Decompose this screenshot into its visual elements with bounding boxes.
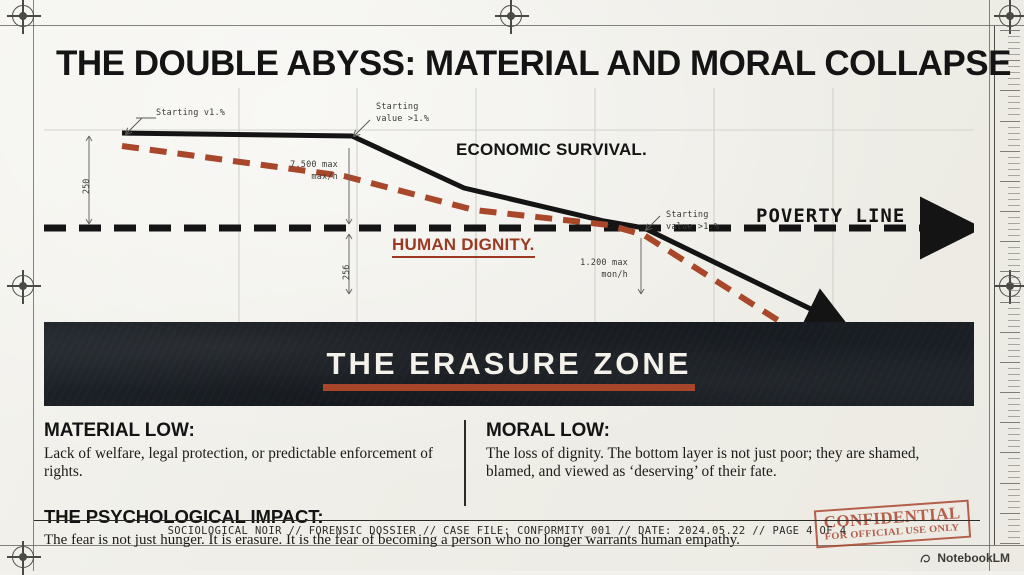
ruler-tick xyxy=(1008,277,1020,278)
ruler-tick xyxy=(1008,223,1020,224)
ruler-tick xyxy=(1008,416,1020,417)
human-dignity-text: HUMAN DIGNITY. xyxy=(392,235,535,255)
ruler-tick xyxy=(1008,175,1020,176)
material-low-body: Lack of welfare, legal protection, or pr… xyxy=(44,445,446,482)
ruler-tick xyxy=(1008,368,1020,369)
ruler-tick xyxy=(1008,320,1020,321)
ruler-tick xyxy=(1008,114,1020,115)
ruler-tick xyxy=(1000,422,1020,423)
ruler-tick xyxy=(1008,446,1020,447)
poster-page: (function(){ var host=document.currentSc… xyxy=(0,0,1024,571)
registration-mark-middle-left xyxy=(12,275,34,297)
ruler-tick xyxy=(1008,290,1020,291)
ruler-tick xyxy=(1008,265,1020,266)
ruler-tick xyxy=(1000,332,1020,333)
ruler-tick xyxy=(1000,121,1020,122)
registration-mark-top-right xyxy=(999,5,1021,27)
ruler-tick xyxy=(1008,507,1020,508)
ruler-tick xyxy=(1008,458,1020,459)
content-sheet: THE DOUBLE ABYSS: MATERIAL AND MORAL COL… xyxy=(34,26,980,545)
ruler-tick xyxy=(1008,36,1020,37)
ruler-tick xyxy=(1008,157,1020,158)
ruler-tick xyxy=(1008,374,1020,375)
ruler-tick xyxy=(1008,199,1020,200)
dimension-label-top: 250 xyxy=(82,179,92,194)
footer-bar: SOCIOLOGICAL NOIR // FORENSIC DOSSIER //… xyxy=(34,520,980,545)
ruler-tick xyxy=(1008,440,1020,441)
ruler-tick xyxy=(1008,428,1020,429)
ruler-tick xyxy=(1008,127,1020,128)
ruler-tick xyxy=(1008,404,1020,405)
ruler-tick xyxy=(1008,259,1020,260)
erasure-zone-label: THE ERASURE ZONE xyxy=(327,346,692,382)
ruler-tick xyxy=(1000,483,1020,484)
ruler-tick xyxy=(1008,217,1020,218)
ruler-tick xyxy=(1008,133,1020,134)
edge-ruler: (function(){ var host=document.currentSc… xyxy=(994,26,1020,545)
ruler-tick xyxy=(1008,205,1020,206)
ruler-tick xyxy=(1008,344,1020,345)
collapse-chart: Starting v1.% Starting value >1.% Starti… xyxy=(44,88,974,338)
ruler-tick xyxy=(1000,181,1020,182)
ruler-tick xyxy=(1008,42,1020,43)
ruler-tick xyxy=(1000,543,1020,544)
measurement-right-line1: 1.200 max xyxy=(556,258,628,269)
notebooklm-icon xyxy=(919,552,932,565)
annotation-start-right-line1: Starting xyxy=(666,210,709,221)
ruler-tick xyxy=(1008,326,1020,327)
ruler-tick xyxy=(1008,84,1020,85)
ruler-tick xyxy=(1008,495,1020,496)
notebooklm-label: NotebookLM xyxy=(937,551,1010,565)
ruler-tick xyxy=(1008,531,1020,532)
measurement-mid-line2: max/h xyxy=(266,172,338,183)
title-highlight: DOUBLE ABYSS xyxy=(134,44,405,84)
ruler-tick xyxy=(1000,211,1020,212)
page-title: THE DOUBLE ABYSS: MATERIAL AND MORAL COL… xyxy=(56,44,970,84)
ruler-tick xyxy=(1000,151,1020,152)
ruler-tick xyxy=(1008,296,1020,297)
ruler-tick xyxy=(1008,308,1020,309)
ruler-tick xyxy=(1008,187,1020,188)
ruler-tick xyxy=(1008,229,1020,230)
moral-low-heading: MORAL LOW: xyxy=(486,420,956,442)
ruler-tick xyxy=(1008,108,1020,109)
registration-mark-bottom-left xyxy=(12,546,34,568)
ruler-tick xyxy=(1008,163,1020,164)
ruler-tick xyxy=(1000,241,1020,242)
ruler-tick xyxy=(1008,314,1020,315)
crop-line-right xyxy=(989,0,990,571)
ruler-tick xyxy=(1000,362,1020,363)
panel-material-low: MATERIAL LOW: Lack of welfare, legal pro… xyxy=(44,420,464,506)
ruler-tick xyxy=(1008,235,1020,236)
title-pre: THE xyxy=(56,44,134,83)
ruler-tick xyxy=(1008,537,1020,538)
notebooklm-branding: NotebookLM xyxy=(919,551,1010,565)
title-post: : MATERIAL AND MORAL COLLAPSE xyxy=(405,44,1011,83)
ruler-tick xyxy=(1008,96,1020,97)
panel-moral-low: MORAL LOW: The loss of dignity. The bott… xyxy=(464,420,974,506)
measurement-right-line2: mon/h xyxy=(556,270,628,281)
ruler-tick xyxy=(1000,90,1020,91)
ruler-tick xyxy=(1008,356,1020,357)
ruler-tick xyxy=(1008,398,1020,399)
annotation-start-left: Starting v1.% xyxy=(156,108,225,119)
poverty-line-label: POVERTY LINE xyxy=(756,205,905,227)
ruler-rail xyxy=(994,26,996,545)
ruler-tick xyxy=(1000,30,1020,31)
ruler-tick xyxy=(1008,169,1020,170)
ruler-tick xyxy=(1008,489,1020,490)
annotation-start-mid-line2: value >1.% xyxy=(376,114,429,125)
ruler-tick xyxy=(1000,392,1020,393)
ruler-tick xyxy=(1008,410,1020,411)
material-low-heading: MATERIAL LOW: xyxy=(44,420,446,442)
ruler-tick xyxy=(1008,247,1020,248)
ruler-tick xyxy=(1008,525,1020,526)
moral-low-body: The loss of dignity. The bottom layer is… xyxy=(486,445,956,482)
ruler-tick xyxy=(1008,471,1020,472)
annotation-start-mid-line1: Starting xyxy=(376,102,419,113)
footer-text: SOCIOLOGICAL NOIR // FORENSIC DOSSIER //… xyxy=(34,525,980,537)
ruler-tick xyxy=(1008,465,1020,466)
ruler-tick xyxy=(1008,139,1020,140)
ruler-tick xyxy=(1000,271,1020,272)
ruler-tick xyxy=(1000,302,1020,303)
ruler-tick xyxy=(1008,338,1020,339)
ruler-tick xyxy=(1000,513,1020,514)
ruler-tick xyxy=(1008,434,1020,435)
annotation-start-right-line2: value >1.% xyxy=(666,222,719,233)
erasure-zone-banner: THE ERASURE ZONE xyxy=(44,322,974,406)
ruler-tick xyxy=(1008,386,1020,387)
ruler-tick xyxy=(1000,452,1020,453)
ruler-tick xyxy=(1008,477,1020,478)
measurement-mid-line1: 7.500 max xyxy=(266,160,338,171)
ruler-tick xyxy=(1008,145,1020,146)
ruler-tick xyxy=(1008,283,1020,284)
ruler-tick xyxy=(1008,380,1020,381)
ruler-tick xyxy=(1008,253,1020,254)
summary-columns: MATERIAL LOW: Lack of welfare, legal pro… xyxy=(44,420,974,506)
ruler-tick xyxy=(1008,350,1020,351)
dimension-label-bottom: 256 xyxy=(342,265,352,280)
ruler-tick xyxy=(1008,193,1020,194)
series-label-economic-survival: ECONOMIC SURVIVAL. xyxy=(456,140,647,160)
ruler-tick xyxy=(1008,102,1020,103)
registration-mark-top-center xyxy=(500,5,522,27)
series-label-human-dignity: HUMAN DIGNITY. xyxy=(392,235,535,255)
ruler-tick xyxy=(1008,501,1020,502)
ruler-tick xyxy=(1008,519,1020,520)
registration-mark-top-left xyxy=(12,5,34,27)
